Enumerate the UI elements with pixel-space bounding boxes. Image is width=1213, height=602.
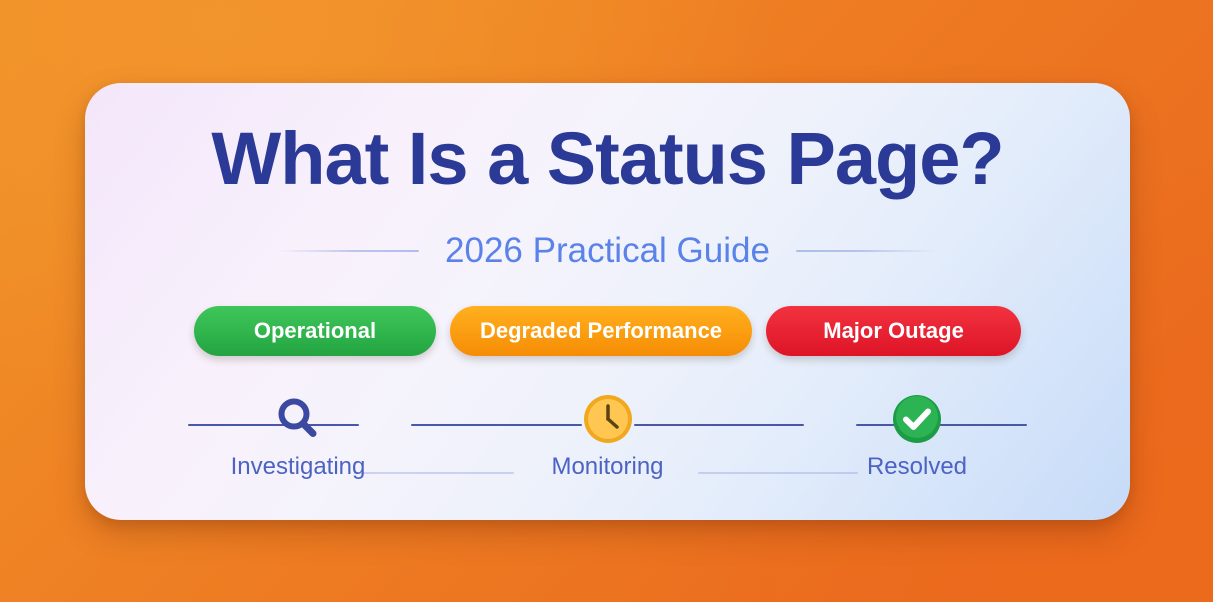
- incident-timeline: Investigating Monitoring: [188, 393, 1027, 498]
- subtitle-rule-left: [279, 250, 419, 252]
- page-title: What Is a Status Page?: [85, 116, 1130, 201]
- clock-icon: [582, 393, 634, 445]
- status-badge-row: Operational Degraded Performance Major O…: [85, 306, 1130, 356]
- subtitle-row: 2026 Practical Guide: [85, 231, 1130, 271]
- timeline-label-investigating: Investigating: [231, 453, 366, 481]
- hero-card: What Is a Status Page? 2026 Practical Gu…: [85, 83, 1130, 520]
- timeline-label-monitoring: Monitoring: [551, 453, 663, 481]
- timeline-step-investigating[interactable]: Investigating: [188, 393, 408, 481]
- status-badge-major-outage[interactable]: Major Outage: [766, 306, 1021, 356]
- page-subtitle: 2026 Practical Guide: [445, 231, 770, 271]
- subtitle-rule-right: [796, 250, 936, 252]
- timeline-step-monitoring[interactable]: Monitoring: [498, 393, 718, 481]
- timeline-label-resolved: Resolved: [867, 453, 967, 481]
- magnifier-icon: [272, 393, 324, 445]
- status-badge-degraded[interactable]: Degraded Performance: [450, 306, 752, 356]
- timeline-steps: Investigating Monitoring: [188, 393, 1027, 481]
- status-badge-operational[interactable]: Operational: [194, 306, 436, 356]
- timeline-step-resolved[interactable]: Resolved: [807, 393, 1027, 481]
- check-circle-icon: [891, 393, 943, 445]
